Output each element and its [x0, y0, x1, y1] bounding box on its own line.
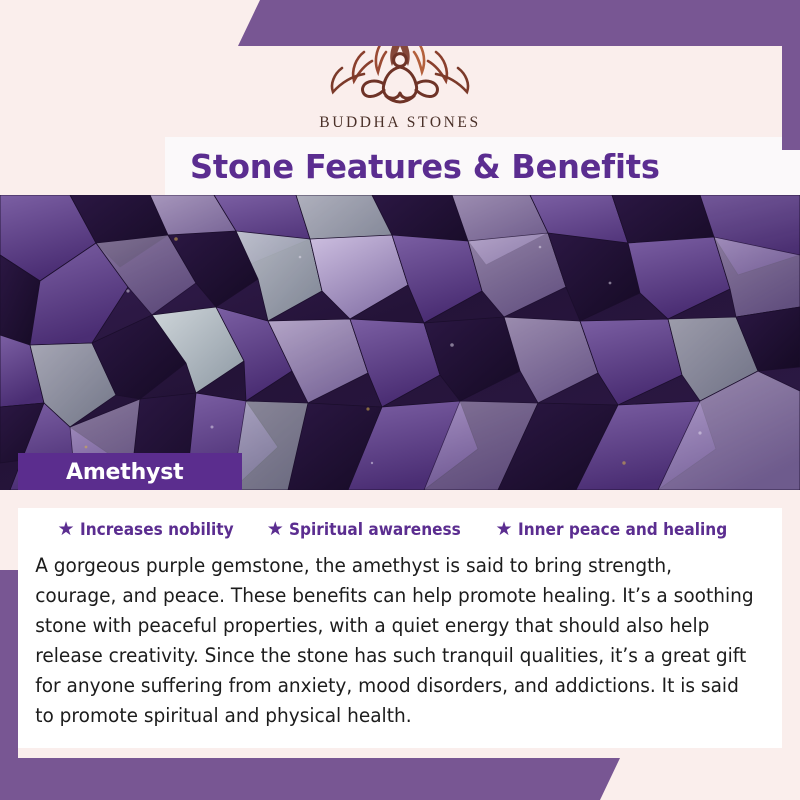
feature-item: ★ Spiritual awareness	[267, 520, 474, 539]
feature-label: Inner peace and healing	[518, 520, 727, 539]
brand-logo: BUDDHA STONES	[0, 24, 800, 132]
feature-item: ★ Inner peace and healing	[496, 520, 743, 539]
features-list: ★ Increases nobility ★ Spiritual awarene…	[18, 516, 782, 541]
feature-label: Increases nobility	[80, 520, 234, 539]
stone-photo: Amethyst	[0, 195, 800, 490]
lotus-meditation-figure-icon	[320, 24, 480, 110]
page-title: Stone Features & Benefits	[190, 147, 660, 186]
stone-name-banner: Amethyst	[18, 453, 242, 490]
star-icon: ★	[57, 520, 74, 539]
brand-name: BUDDHA STONES	[319, 114, 480, 132]
feature-label: Spiritual awareness	[289, 520, 461, 539]
title-banner: Stone Features & Benefits	[165, 137, 800, 195]
infographic-page: BUDDHA STONES Stone Features & Benefits	[0, 0, 800, 800]
star-icon: ★	[267, 520, 284, 539]
cream-divider	[0, 490, 800, 508]
stone-name: Amethyst	[66, 460, 183, 485]
stone-description: A gorgeous purple gemstone, the amethyst…	[18, 541, 777, 731]
content-section: ★ Increases nobility ★ Spiritual awarene…	[18, 508, 782, 748]
amethyst-crystal-cluster-image	[0, 195, 800, 490]
star-icon: ★	[496, 520, 513, 539]
feature-item: ★ Increases nobility	[57, 520, 244, 539]
